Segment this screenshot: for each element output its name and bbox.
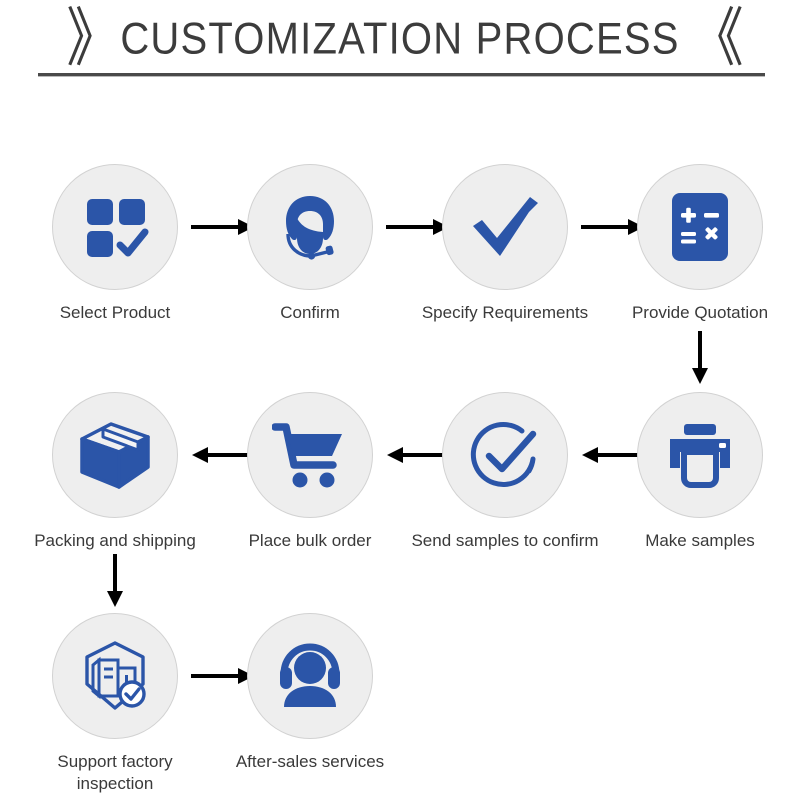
page-header: 》 CUSTOMIZATION PROCESS 《 [0,0,800,96]
step-label: Specify Requirements [410,302,600,324]
step-icon-circle [52,164,178,290]
factory-shield-check-icon [77,638,153,714]
step-label: Packing and shipping [20,530,210,552]
step-label: Place bulk order [215,530,405,552]
title-divider [38,73,765,77]
step-label: After-sales services [215,751,405,773]
step-label: Send samples to confirm [410,530,600,552]
step-place-bulk-order[interactable]: Place bulk order [215,392,405,552]
step-confirm[interactable]: Confirm [215,164,405,324]
step-icon-circle [52,392,178,518]
step-packing-and-shipping[interactable]: Packing and shipping [20,392,210,552]
title-row: 》 CUSTOMIZATION PROCESS 《 [0,8,800,70]
step-specify-requirements[interactable]: Specify Requirements [410,164,600,324]
calculator-icon [665,190,735,264]
grid-squares-check-icon [79,191,151,263]
printer-icon [662,422,738,488]
chevron-double-left-icon: 《 [682,7,734,71]
headset-operator-icon [273,190,347,264]
step-label: Make samples [605,530,795,552]
step-icon-circle [442,392,568,518]
step-icon-circle [637,392,763,518]
step-support-factory-inspection[interactable]: Support factory inspection [20,613,210,795]
package-box-icon [75,417,155,493]
step-icon-circle [637,164,763,290]
arrow-row2-to-row3 [103,553,127,609]
arrow-row1-to-row2 [688,330,712,386]
step-icon-circle [247,392,373,518]
step-select-product[interactable]: Select Product [20,164,210,324]
step-icon-circle [247,164,373,290]
step-icon-circle [442,164,568,290]
circle-check-icon [467,417,543,493]
checkmark-icon [467,189,543,265]
step-icon-circle [52,613,178,739]
step-after-sales-services[interactable]: After-sales services [215,613,405,773]
step-make-samples[interactable]: Make samples [605,392,795,552]
step-label: Support factory inspection [20,751,210,795]
step-label: Provide Quotation [605,302,795,324]
step-label: Confirm [215,302,405,324]
chevron-double-right-icon: 》 [66,7,118,71]
step-icon-circle [247,613,373,739]
shopping-cart-icon [272,420,348,490]
page-title: CUSTOMIZATION PROCESS [120,13,679,65]
step-provide-quotation[interactable]: Provide Quotation [605,164,795,324]
support-agent-icon [272,641,348,711]
step-send-samples-to-confirm[interactable]: Send samples to confirm [410,392,600,552]
step-label: Select Product [20,302,210,324]
